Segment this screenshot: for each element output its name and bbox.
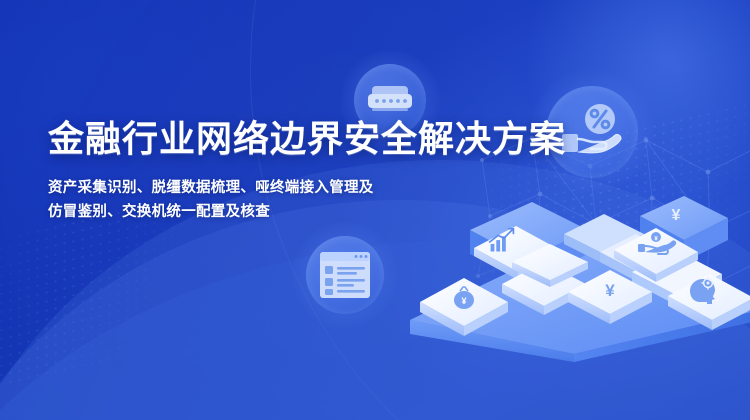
svg-text:¥: ¥ — [461, 296, 466, 306]
document-list-icon — [316, 248, 374, 302]
banner-hero: ¥ — [0, 0, 750, 420]
hero-text-block: 金融行业网络边界安全解决方案 资产采集识别、脱缰数据梳理、哑终端接入管理及 仿冒… — [48, 118, 566, 224]
router-switch-icon — [362, 80, 418, 120]
badge-document-list — [292, 222, 398, 328]
subtitle-line-1: 资产采集识别、脱缰数据梳理、哑终端接入管理及 — [48, 177, 566, 200]
svg-text:¥: ¥ — [672, 207, 681, 224]
yen-currency-icon: ¥ — [672, 207, 681, 224]
subtitle: 资产采集识别、脱缰数据梳理、哑终端接入管理及 仿冒鉴别、交换机统一配置及核查 — [48, 177, 566, 224]
subtitle-line-2: 仿冒鉴别、交换机统一配置及核查 — [48, 201, 566, 224]
yen-currency-icon: ¥ — [605, 281, 615, 300]
page-title: 金融行业网络边界安全解决方案 — [48, 118, 566, 160]
hand-percent-icon — [556, 101, 628, 163]
